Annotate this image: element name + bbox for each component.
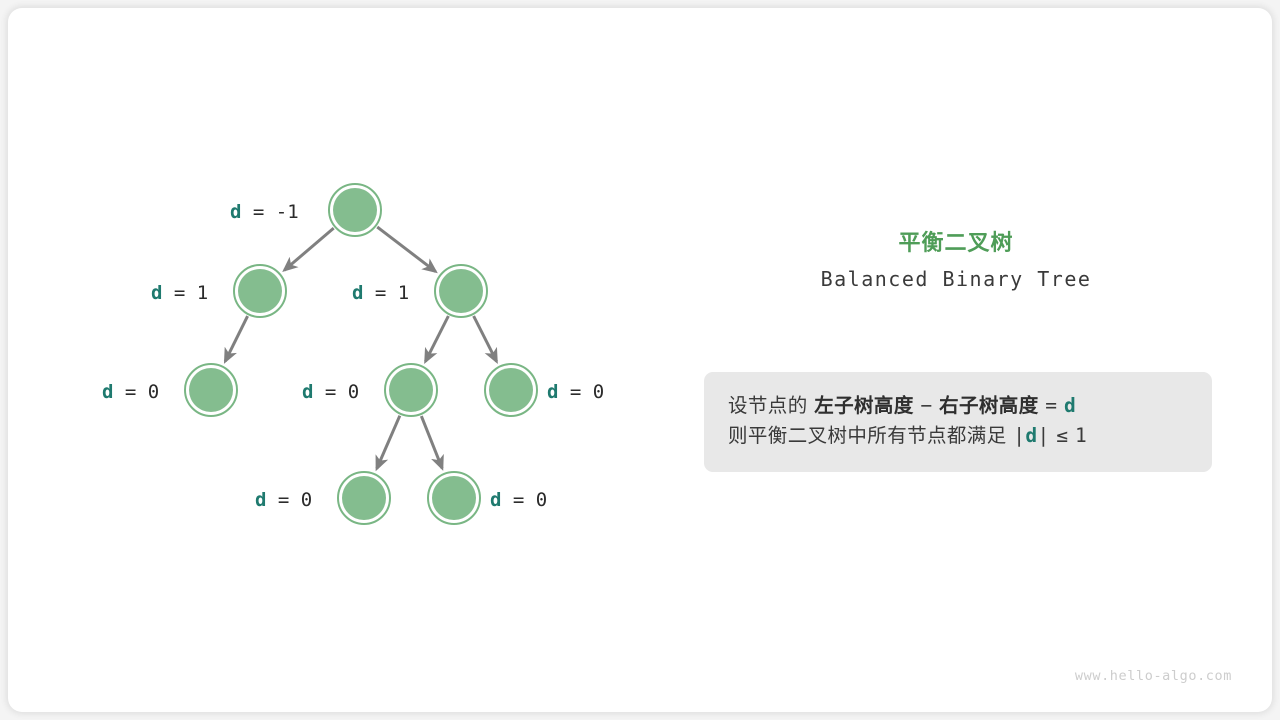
- tree-edge: [425, 316, 448, 361]
- tree-edge: [225, 316, 247, 361]
- abs-bar-close: |: [1038, 424, 1050, 447]
- tree-node: [234, 265, 286, 317]
- tree-node: [485, 364, 537, 416]
- node-label-value: 1: [197, 282, 208, 304]
- node-label-variable: d: [547, 381, 558, 403]
- equals-operator: =: [1045, 394, 1057, 417]
- node-label-equals: =: [113, 381, 147, 403]
- tree-edge: [377, 416, 400, 469]
- balance-factor-variable-abs: d: [1025, 424, 1037, 447]
- right-subtree-height-term: 右子树高度: [939, 394, 1039, 417]
- tree-edge: [474, 316, 497, 361]
- tree-node: [338, 472, 390, 524]
- node-balance-factor-label: d = 0: [255, 491, 312, 510]
- page-subtitle: Balanced Binary Tree: [704, 267, 1208, 292]
- node-label-variable: d: [102, 381, 113, 403]
- node-balance-factor-label: d = 0: [490, 491, 547, 510]
- tree-edge: [284, 228, 333, 270]
- definition-box: 设节点的 左子树高度 − 右子树高度 = d 则平衡二叉树中所有节点都满足 |d…: [704, 372, 1212, 472]
- node-label-value: 0: [536, 489, 547, 511]
- node-label-variable: d: [255, 489, 266, 511]
- node-balance-factor-label: d = 1: [151, 284, 208, 303]
- node-label-value: 1: [398, 282, 409, 304]
- node-label-equals: =: [241, 201, 275, 223]
- tree-node: [428, 472, 480, 524]
- binary-tree-diagram: [8, 8, 708, 712]
- tree-node-body: [342, 476, 386, 520]
- definition-line-1: 设节点的 左子树高度 − 右子树高度 = d: [728, 391, 1188, 421]
- minus-operator: −: [920, 394, 932, 417]
- node-balance-factor-label: d = 1: [352, 284, 409, 303]
- content-card: d = -1d = 1d = 1d = 0d = 0d = 0d = 0d = …: [8, 8, 1272, 712]
- tree-edge: [421, 416, 442, 468]
- node-balance-factor-label: d = -1: [230, 203, 299, 222]
- balance-factor-variable: d: [1064, 394, 1076, 417]
- node-label-equals: =: [313, 381, 347, 403]
- screenshot-canvas: d = -1d = 1d = 1d = 0d = 0d = 0d = 0d = …: [0, 0, 1280, 720]
- tree-node: [385, 364, 437, 416]
- left-subtree-height-term: 左子树高度: [814, 394, 914, 417]
- node-label-variable: d: [352, 282, 363, 304]
- node-label-equals: =: [162, 282, 196, 304]
- tree-nodes: [185, 184, 537, 524]
- tree-node-body: [489, 368, 533, 412]
- tree-node-body: [333, 188, 377, 232]
- node-label-equals: =: [558, 381, 592, 403]
- tree-node: [185, 364, 237, 416]
- node-label-variable: d: [302, 381, 313, 403]
- less-equal-operator: ≤: [1056, 424, 1068, 447]
- node-label-equals: =: [363, 282, 397, 304]
- node-label-equals: =: [266, 489, 300, 511]
- tree-node-body: [432, 476, 476, 520]
- bound-value: 1: [1075, 424, 1087, 447]
- footer-watermark: www.hello-algo.com: [1075, 668, 1232, 684]
- definition-prefix: 设节点的: [728, 394, 808, 417]
- node-label-variable: d: [230, 201, 241, 223]
- tree-node-body: [389, 368, 433, 412]
- tree-edge: [377, 227, 435, 272]
- abs-bar-open: |: [1013, 424, 1025, 447]
- node-balance-factor-label: d = 0: [547, 383, 604, 402]
- node-label-variable: d: [151, 282, 162, 304]
- node-balance-factor-label: d = 0: [102, 383, 159, 402]
- node-label-value: 0: [593, 381, 604, 403]
- tree-node: [435, 265, 487, 317]
- tree-edges: [225, 227, 496, 469]
- node-label-value: 0: [148, 381, 159, 403]
- tree-node-body: [439, 269, 483, 313]
- tree-node-body: [238, 269, 282, 313]
- node-label-value: 0: [301, 489, 312, 511]
- tree-node-body: [189, 368, 233, 412]
- info-panel: 平衡二叉树 Balanced Binary Tree: [704, 230, 1208, 292]
- condition-prefix: 则平衡二叉树中所有节点都满足: [728, 424, 1007, 447]
- node-label-value: -1: [276, 201, 299, 223]
- tree-node: [329, 184, 381, 236]
- definition-line-2: 则平衡二叉树中所有节点都满足 |d| ≤ 1: [728, 421, 1188, 451]
- node-label-variable: d: [490, 489, 501, 511]
- page-title: 平衡二叉树: [704, 230, 1208, 258]
- node-balance-factor-label: d = 0: [302, 383, 359, 402]
- node-label-equals: =: [501, 489, 535, 511]
- node-label-value: 0: [348, 381, 359, 403]
